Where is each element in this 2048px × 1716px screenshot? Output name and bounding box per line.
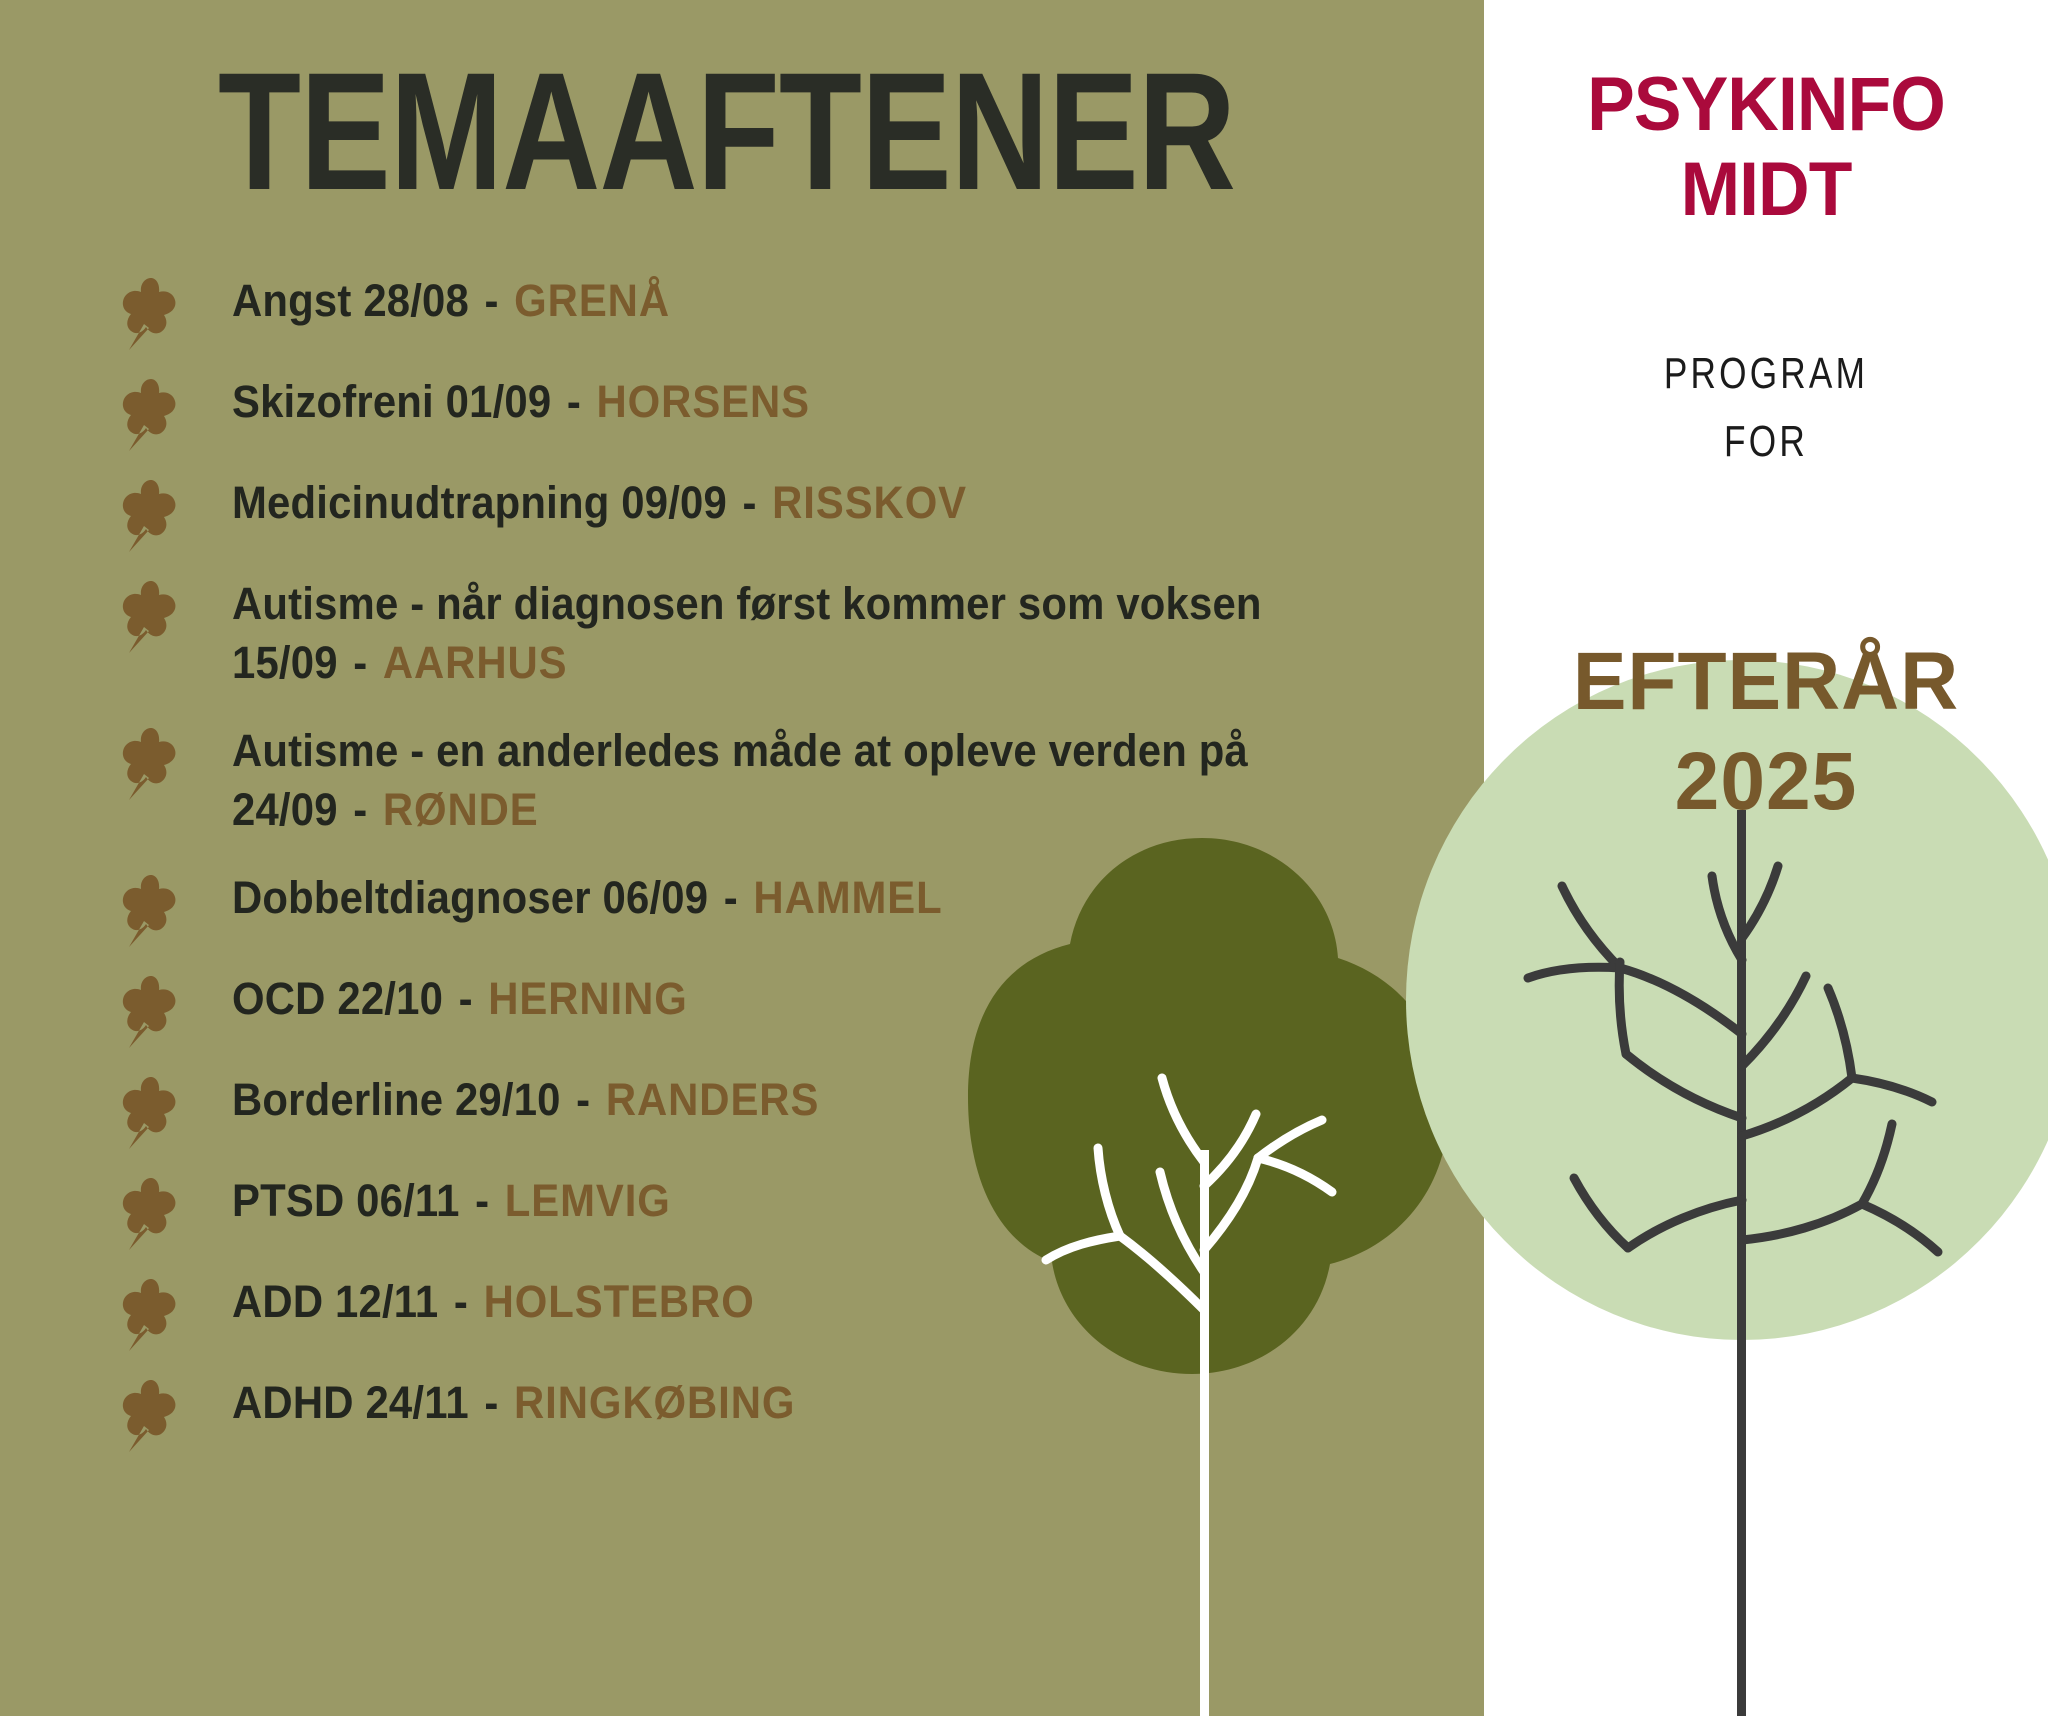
event-text: Borderline 29/10 - RANDERS bbox=[232, 1071, 1383, 1130]
poster-canvas: TEMAAFTENER Angst 28/08 - GRENÅ bbox=[0, 0, 2048, 1716]
event-text: OCD 22/10 - HERNING bbox=[232, 970, 1383, 1029]
event-city: AARHUS bbox=[383, 637, 568, 688]
season-name: EFTERÅR bbox=[1490, 632, 2043, 732]
list-item[interactable]: ADHD 24/11 - RINGKØBING bbox=[120, 1374, 1470, 1452]
list-item[interactable]: PTSD 06/11 - LEMVIG bbox=[120, 1172, 1470, 1250]
event-date: 09/09 bbox=[621, 477, 727, 528]
pushpin-icon bbox=[120, 272, 232, 350]
pushpin-icon bbox=[120, 373, 232, 451]
event-city: RØNDE bbox=[383, 784, 539, 835]
event-dash: - bbox=[349, 784, 371, 835]
event-dash: - bbox=[455, 973, 477, 1024]
event-date: 15/09 bbox=[232, 637, 338, 688]
event-text: Medicinudtrapning 09/09 - RISSKOV bbox=[232, 474, 1383, 533]
event-topic: ADHD bbox=[232, 1377, 354, 1428]
event-city: HORSENS bbox=[597, 376, 810, 427]
list-item[interactable]: ADD 12/11 - HOLSTEBRO bbox=[120, 1273, 1470, 1351]
event-text: Dobbeltdiagnoser 06/09 - HAMMEL bbox=[232, 869, 1383, 928]
event-city: RANDERS bbox=[606, 1074, 819, 1125]
event-city: HAMMEL bbox=[753, 872, 942, 923]
event-text: Skizofreni 01/09 - HORSENS bbox=[232, 373, 1383, 432]
event-topic: Medicinudtrapning bbox=[232, 477, 609, 528]
event-dash: - bbox=[572, 1074, 594, 1125]
for-word: FOR bbox=[1540, 408, 1991, 476]
event-dash: - bbox=[739, 477, 761, 528]
event-date: 01/09 bbox=[446, 376, 552, 427]
list-item[interactable]: Borderline 29/10 - RANDERS bbox=[120, 1071, 1470, 1149]
event-text: Autisme - en anderledes måde at opleve v… bbox=[232, 722, 1383, 839]
pushpin-icon bbox=[120, 722, 232, 800]
event-dash: - bbox=[563, 376, 585, 427]
list-item[interactable]: Angst 28/08 - GRENÅ bbox=[120, 272, 1470, 350]
list-item[interactable]: Skizofreni 01/09 - HORSENS bbox=[120, 373, 1470, 451]
event-topic: PTSD bbox=[232, 1175, 344, 1226]
list-item[interactable]: Dobbeltdiagnoser 06/09 - HAMMEL bbox=[120, 869, 1470, 947]
event-text: PTSD 06/11 - LEMVIG bbox=[232, 1172, 1383, 1231]
season-label: EFTERÅR 2025 bbox=[1490, 632, 2043, 832]
brand-line-1: PSYKINFO bbox=[1501, 62, 2031, 147]
list-item[interactable]: Autisme - en anderledes måde at opleve v… bbox=[120, 722, 1470, 839]
event-dash: - bbox=[481, 275, 503, 326]
event-dash: - bbox=[471, 1175, 493, 1226]
event-city: RINGKØBING bbox=[514, 1377, 795, 1428]
event-dash: - bbox=[349, 637, 371, 688]
event-city: LEMVIG bbox=[505, 1175, 671, 1226]
event-date: 22/10 bbox=[337, 973, 443, 1024]
pushpin-icon bbox=[120, 474, 232, 552]
event-date: 06/11 bbox=[356, 1175, 459, 1226]
program-for-label: PROGRAM FOR bbox=[1540, 340, 1991, 476]
event-date: 29/10 bbox=[455, 1074, 561, 1125]
right-white-column bbox=[1484, 0, 2048, 1716]
event-date: 06/09 bbox=[603, 872, 709, 923]
event-city: HOLSTEBRO bbox=[484, 1276, 755, 1327]
event-topic: Dobbeltdiagnoser bbox=[232, 872, 591, 923]
event-topic: Skizofreni bbox=[232, 376, 434, 427]
event-topic: Autisme - når diagnosen først kommer som… bbox=[232, 578, 1262, 629]
event-topic: ADD bbox=[232, 1276, 323, 1327]
event-date: 24/11 bbox=[365, 1377, 468, 1428]
page-title: TEMAAFTENER bbox=[218, 48, 1235, 215]
event-topic: Angst bbox=[232, 275, 352, 326]
event-city: GRENÅ bbox=[514, 275, 670, 326]
pushpin-icon bbox=[120, 869, 232, 947]
pushpin-icon bbox=[120, 970, 232, 1048]
event-topic: Autisme - en anderledes måde at opleve v… bbox=[232, 725, 1248, 776]
event-topic: Borderline bbox=[232, 1074, 443, 1125]
pushpin-icon bbox=[120, 575, 232, 653]
program-word: PROGRAM bbox=[1540, 340, 1991, 408]
list-item[interactable]: OCD 22/10 - HERNING bbox=[120, 970, 1470, 1048]
pushpin-icon bbox=[120, 1071, 232, 1149]
event-city: HERNING bbox=[488, 973, 687, 1024]
list-item[interactable]: Autisme - når diagnosen først kommer som… bbox=[120, 575, 1470, 692]
brand-logo: PSYKINFO MIDT bbox=[1501, 62, 2031, 232]
event-date: 24/09 bbox=[232, 784, 338, 835]
list-item[interactable]: Medicinudtrapning 09/09 - RISSKOV bbox=[120, 474, 1470, 552]
event-text: Angst 28/08 - GRENÅ bbox=[232, 272, 1383, 331]
event-text: ADD 12/11 - HOLSTEBRO bbox=[232, 1273, 1383, 1332]
event-dash: - bbox=[450, 1276, 472, 1327]
event-city: RISSKOV bbox=[772, 477, 967, 528]
event-text: Autisme - når diagnosen først kommer som… bbox=[232, 575, 1383, 692]
event-date: 12/11 bbox=[335, 1276, 438, 1327]
event-dash: - bbox=[481, 1377, 503, 1428]
event-dash: - bbox=[720, 872, 742, 923]
event-date: 28/08 bbox=[363, 275, 469, 326]
season-year: 2025 bbox=[1490, 732, 2043, 832]
pushpin-icon bbox=[120, 1172, 232, 1250]
event-topic: OCD bbox=[232, 973, 326, 1024]
event-list: Angst 28/08 - GRENÅ Skizofreni 01/09 - H… bbox=[120, 272, 1470, 1475]
pushpin-icon bbox=[120, 1374, 232, 1452]
brand-line-2: MIDT bbox=[1501, 147, 2031, 232]
event-text: ADHD 24/11 - RINGKØBING bbox=[232, 1374, 1383, 1433]
pushpin-icon bbox=[120, 1273, 232, 1351]
